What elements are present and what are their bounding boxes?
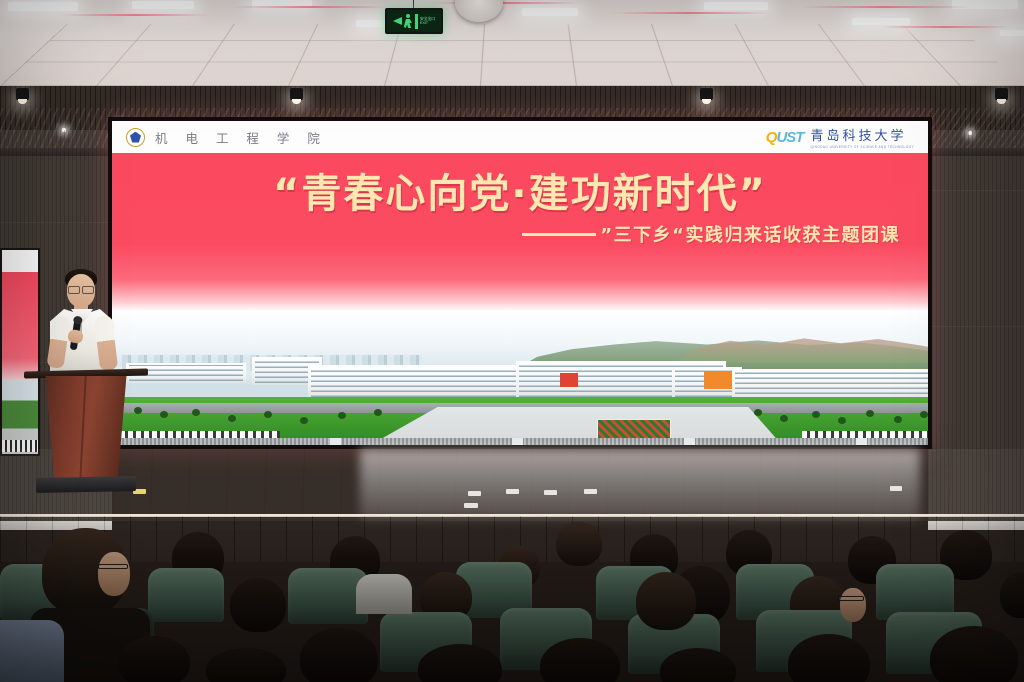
running-person-icon [404, 14, 413, 28]
audience-head [788, 634, 870, 682]
exit-sign-en: EXIT [420, 20, 428, 25]
glasses-icon [68, 286, 94, 292]
floor-paper-marker [584, 489, 597, 494]
college-logo: 机 电 工 程 学 院 [126, 128, 327, 147]
audience-head [636, 572, 696, 630]
door-icon [415, 14, 418, 29]
audience-head [540, 638, 620, 682]
audience-head [1000, 572, 1024, 618]
ceiling-red-reflection [430, 2, 580, 4]
audience-shoulders [0, 620, 64, 682]
glasses-icon [98, 564, 128, 569]
stage-light-reflection [360, 449, 920, 521]
audience-head [556, 522, 602, 566]
speaker [42, 268, 128, 380]
ceiling-red-reflection [230, 6, 390, 8]
floor-paper-marker [464, 503, 478, 508]
auditorium-scene: 安全出口 EXIT [0, 0, 1024, 682]
audience-face [840, 588, 866, 622]
university-abbrev: QQUSTUST [766, 129, 804, 146]
ceiling-light [522, 8, 578, 16]
lectern [34, 370, 138, 490]
led-wall-display: 机 电 工 程 学 院 QQUSTUST 青岛科技大学 QINGDAO UNIV… [108, 117, 932, 449]
audience-area [0, 516, 1024, 682]
audience-head [230, 578, 286, 632]
slide-subtitle: ”三下乡“实践归来话收获主题团课 [600, 221, 900, 247]
glasses-icon [838, 596, 864, 601]
em-dash-rule [522, 233, 596, 236]
university-logo: QQUSTUST 青岛科技大学 QINGDAO UNIVERSITY OF SC… [766, 125, 914, 149]
slide-title: “青春心向党·建功新时代” [112, 161, 928, 219]
ceiling-light [704, 2, 768, 10]
plaza-flowerbed [597, 419, 671, 439]
track-light [995, 88, 1008, 100]
college-logo-text: 机 电 工 程 学 院 [155, 128, 327, 147]
slide-subtitle-row: ”三下乡“实践归来话收获主题团课 [522, 221, 900, 247]
audience-head [206, 648, 286, 682]
ceiling-light [1000, 30, 1024, 36]
exit-sign-text: 安全出口 EXIT [420, 17, 435, 25]
lectern-body [42, 376, 130, 480]
university-logo-textblock: 青岛科技大学 QINGDAO UNIVERSITY OF SCIENCE AND… [810, 125, 914, 149]
track-light [700, 88, 713, 100]
red-accent-building [560, 373, 578, 387]
track-light [290, 88, 303, 100]
orange-accent-building [704, 371, 732, 389]
university-name-cn: 青岛科技大学 [810, 129, 906, 144]
ceiling-red-reflection [800, 6, 970, 8]
ceiling-tile-grid [0, 24, 1024, 86]
campus-building [308, 365, 538, 399]
floor-paper-marker [544, 490, 557, 495]
audience-head [300, 628, 378, 682]
ceiling-light [852, 18, 910, 25]
floor-paper-marker [506, 489, 519, 494]
ceiling-red-reflection [60, 14, 210, 16]
audience-head [930, 626, 1018, 682]
ceiling-light [132, 1, 194, 9]
ceiling: 安全出口 EXIT [0, 0, 1024, 86]
audience-shoulders [356, 574, 412, 614]
floor-paper-marker [468, 491, 481, 496]
university-name-en: QINGDAO UNIVERSITY OF SCIENCE AND TECHNO… [810, 145, 914, 149]
ceiling-projector [455, 0, 503, 22]
emergency-exit-sign: 安全出口 EXIT [385, 8, 443, 34]
ceiling-red-reflection [610, 12, 770, 14]
audience-head [118, 636, 190, 682]
arrow-left-icon [393, 17, 402, 25]
led-screen-content: 机 电 工 程 学 院 QQUSTUST 青岛科技大学 QINGDAO UNIV… [112, 121, 928, 445]
audience-face [98, 552, 130, 596]
floor-paper-marker [890, 486, 902, 491]
lectern-base [36, 476, 136, 493]
audience-head [660, 648, 736, 682]
shield-emblem-icon [126, 128, 145, 147]
campus-aerial-photo [112, 311, 928, 445]
slide-header: 机 电 工 程 学 院 QQUSTUST 青岛科技大学 QINGDAO UNIV… [112, 121, 928, 153]
audience-head [418, 644, 502, 682]
track-light [16, 88, 29, 100]
ceiling-light [8, 2, 78, 11]
ceiling-red-reflection [880, 26, 1010, 28]
auditorium-seat [148, 568, 224, 622]
